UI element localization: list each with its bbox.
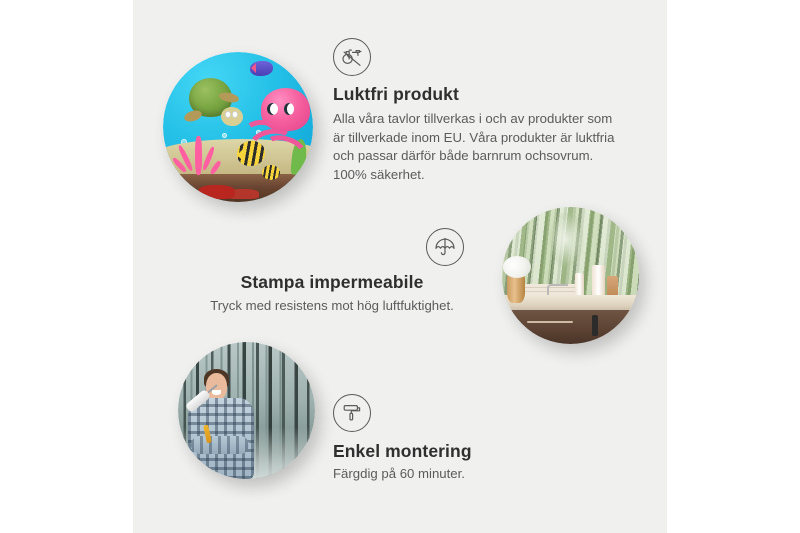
wooden-vanity — [502, 310, 639, 344]
feature-description: Tryck med resistens mot hög luftfuktighe… — [200, 297, 464, 316]
no-smell-spray-bottle-icon — [333, 38, 371, 76]
feature-image-waterproof — [502, 207, 639, 344]
feature-block-odourless: Luktfri produkt Alla våra tavlor tillver… — [333, 38, 629, 185]
coral-icon — [177, 130, 222, 175]
bubble-icon — [222, 133, 227, 138]
feature-title: Enkel montering — [333, 441, 613, 462]
feature-title: Luktfri produkt — [333, 84, 629, 105]
painter-woman-forest-mural — [178, 342, 315, 479]
feature-block-waterproof: Stampa impermeabile Tryck med resistens … — [200, 228, 464, 316]
small-striped-fish-icon — [262, 165, 280, 180]
painter-woman — [186, 367, 263, 479]
feature-description: Alla våra tavlor tillverkas i och av pro… — [333, 110, 621, 185]
paint-roller-icon — [333, 394, 371, 432]
feature-description: Färgdig på 60 minuter. — [333, 465, 613, 484]
feature-block-easy-install: Enkel montering Färgdig på 60 minuter. — [333, 394, 613, 484]
underwater-cartoon-mural — [163, 52, 313, 202]
striped-fish-icon — [237, 141, 266, 167]
feature-image-odourless — [163, 52, 313, 202]
seabed-floor — [163, 174, 313, 203]
sea-turtle-icon — [184, 78, 244, 129]
feature-image-easy-install — [178, 342, 315, 479]
flowers-icon — [503, 256, 530, 278]
blue-fish-icon — [250, 61, 273, 76]
infographic-canvas: Luktfri produkt Alla våra tavlor tillver… — [0, 0, 800, 533]
umbrella-icon — [426, 228, 464, 266]
bathroom-tropical-leaf-wallpaper — [502, 207, 639, 344]
feature-title: Stampa impermeabile — [200, 272, 464, 293]
